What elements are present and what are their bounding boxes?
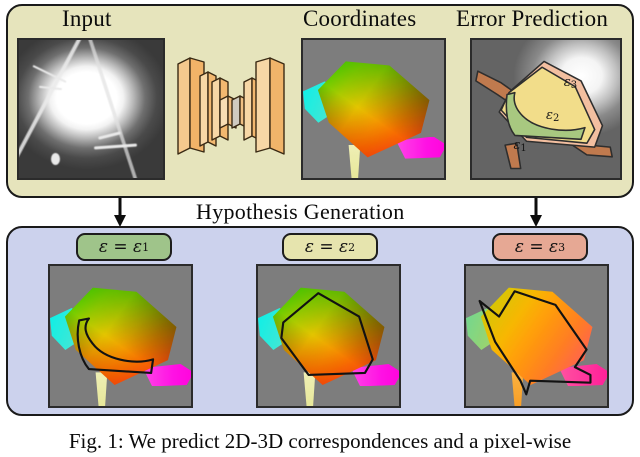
hypothesis-badge-2: ε = ε2 (282, 233, 378, 261)
error-label-eps1: ε1 (513, 138, 526, 154)
coordinate-map-render (301, 38, 446, 180)
hypothesis-outline-2 (258, 266, 399, 406)
hypothesis-generation-label: Hypothesis Generation (196, 200, 405, 224)
hypothesis-render-1 (48, 264, 193, 408)
light-blob (51, 153, 60, 165)
arrow-down-right (528, 198, 544, 228)
hypothesis-outline-1 (50, 266, 191, 406)
hypothesis-badge-1: ε = ε1 (76, 233, 172, 261)
hypothesis-render-2 (256, 264, 401, 408)
hypothesis-badge-3: ε = ε3 (492, 233, 588, 261)
hypothesis-render-3 (464, 264, 609, 408)
hypothesis-outline-3 (466, 266, 607, 406)
badge-subscript: 1 (142, 241, 149, 254)
error-label-eps2: ε2 (546, 108, 559, 124)
badge-label: ε = ε (305, 237, 348, 257)
arrow-down-left (112, 198, 128, 228)
encoder-decoder-network (170, 48, 292, 172)
error-label-eps3: ε3 (564, 75, 577, 91)
input-grayscale-photo (17, 38, 165, 180)
badge-label: ε = ε (99, 237, 142, 257)
figure-caption: Fig. 1: We predict 2D-3D correspondences… (0, 428, 640, 454)
net-layer-edge (178, 58, 190, 154)
badge-subscript: 2 (348, 241, 355, 254)
input-photo-content (19, 40, 163, 178)
column-title-error-prediction: Error Prediction (456, 7, 608, 30)
badge-subscript: 3 (558, 241, 565, 254)
badge-label: ε = ε (515, 237, 558, 257)
column-title-input: Input (62, 7, 112, 30)
column-title-coordinates: Coordinates (303, 7, 416, 30)
error-prediction-overlay: ε3 ε2 ε1 (470, 38, 622, 180)
